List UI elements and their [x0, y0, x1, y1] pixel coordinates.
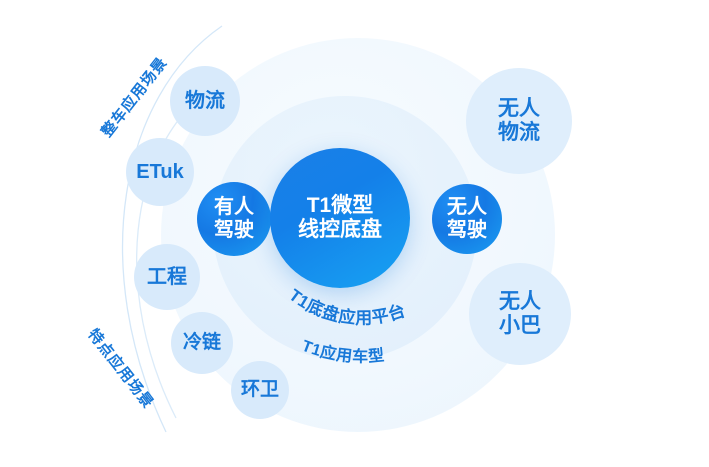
- bubble-unmanned-minibus-label: 无人 小巴: [499, 290, 541, 338]
- bubble-etuk[interactable]: ETuk: [126, 138, 194, 206]
- bubble-unmanned-driving[interactable]: 无人 驾驶: [432, 184, 502, 254]
- bubble-etuk-label: ETuk: [136, 161, 183, 184]
- bubble-logistics-label: 物流: [185, 90, 225, 113]
- bubble-unmanned-minibus[interactable]: 无人 小巴: [469, 263, 571, 365]
- bubble-manned-driving[interactable]: 有人 驾驶: [197, 182, 271, 256]
- bubble-manned-driving-label: 有人 驾驶: [214, 196, 254, 242]
- bubble-cold-chain[interactable]: 冷链: [171, 312, 233, 374]
- bubble-unmanned-driving-label: 无人 驾驶: [447, 196, 487, 242]
- bubble-unmanned-logistics-label: 无人 物流: [498, 97, 540, 145]
- diagram-canvas: T1底盘应用平台 T1应用车型 整车应用场景 特点应用场景 物流 ETuk 工程…: [0, 0, 709, 467]
- bubble-engineering[interactable]: 工程: [134, 244, 200, 310]
- bubble-sanitation-label: 环卫: [241, 379, 279, 401]
- bubble-unmanned-logistics[interactable]: 无人 物流: [466, 68, 572, 174]
- bubble-sanitation[interactable]: 环卫: [231, 361, 289, 419]
- center-core-label: T1微型 线控底盘: [298, 194, 382, 242]
- center-core-bubble[interactable]: T1微型 线控底盘: [270, 148, 410, 288]
- bubble-cold-chain-label: 冷链: [183, 332, 221, 354]
- bubble-engineering-label: 工程: [147, 266, 187, 289]
- bubble-logistics[interactable]: 物流: [170, 66, 240, 136]
